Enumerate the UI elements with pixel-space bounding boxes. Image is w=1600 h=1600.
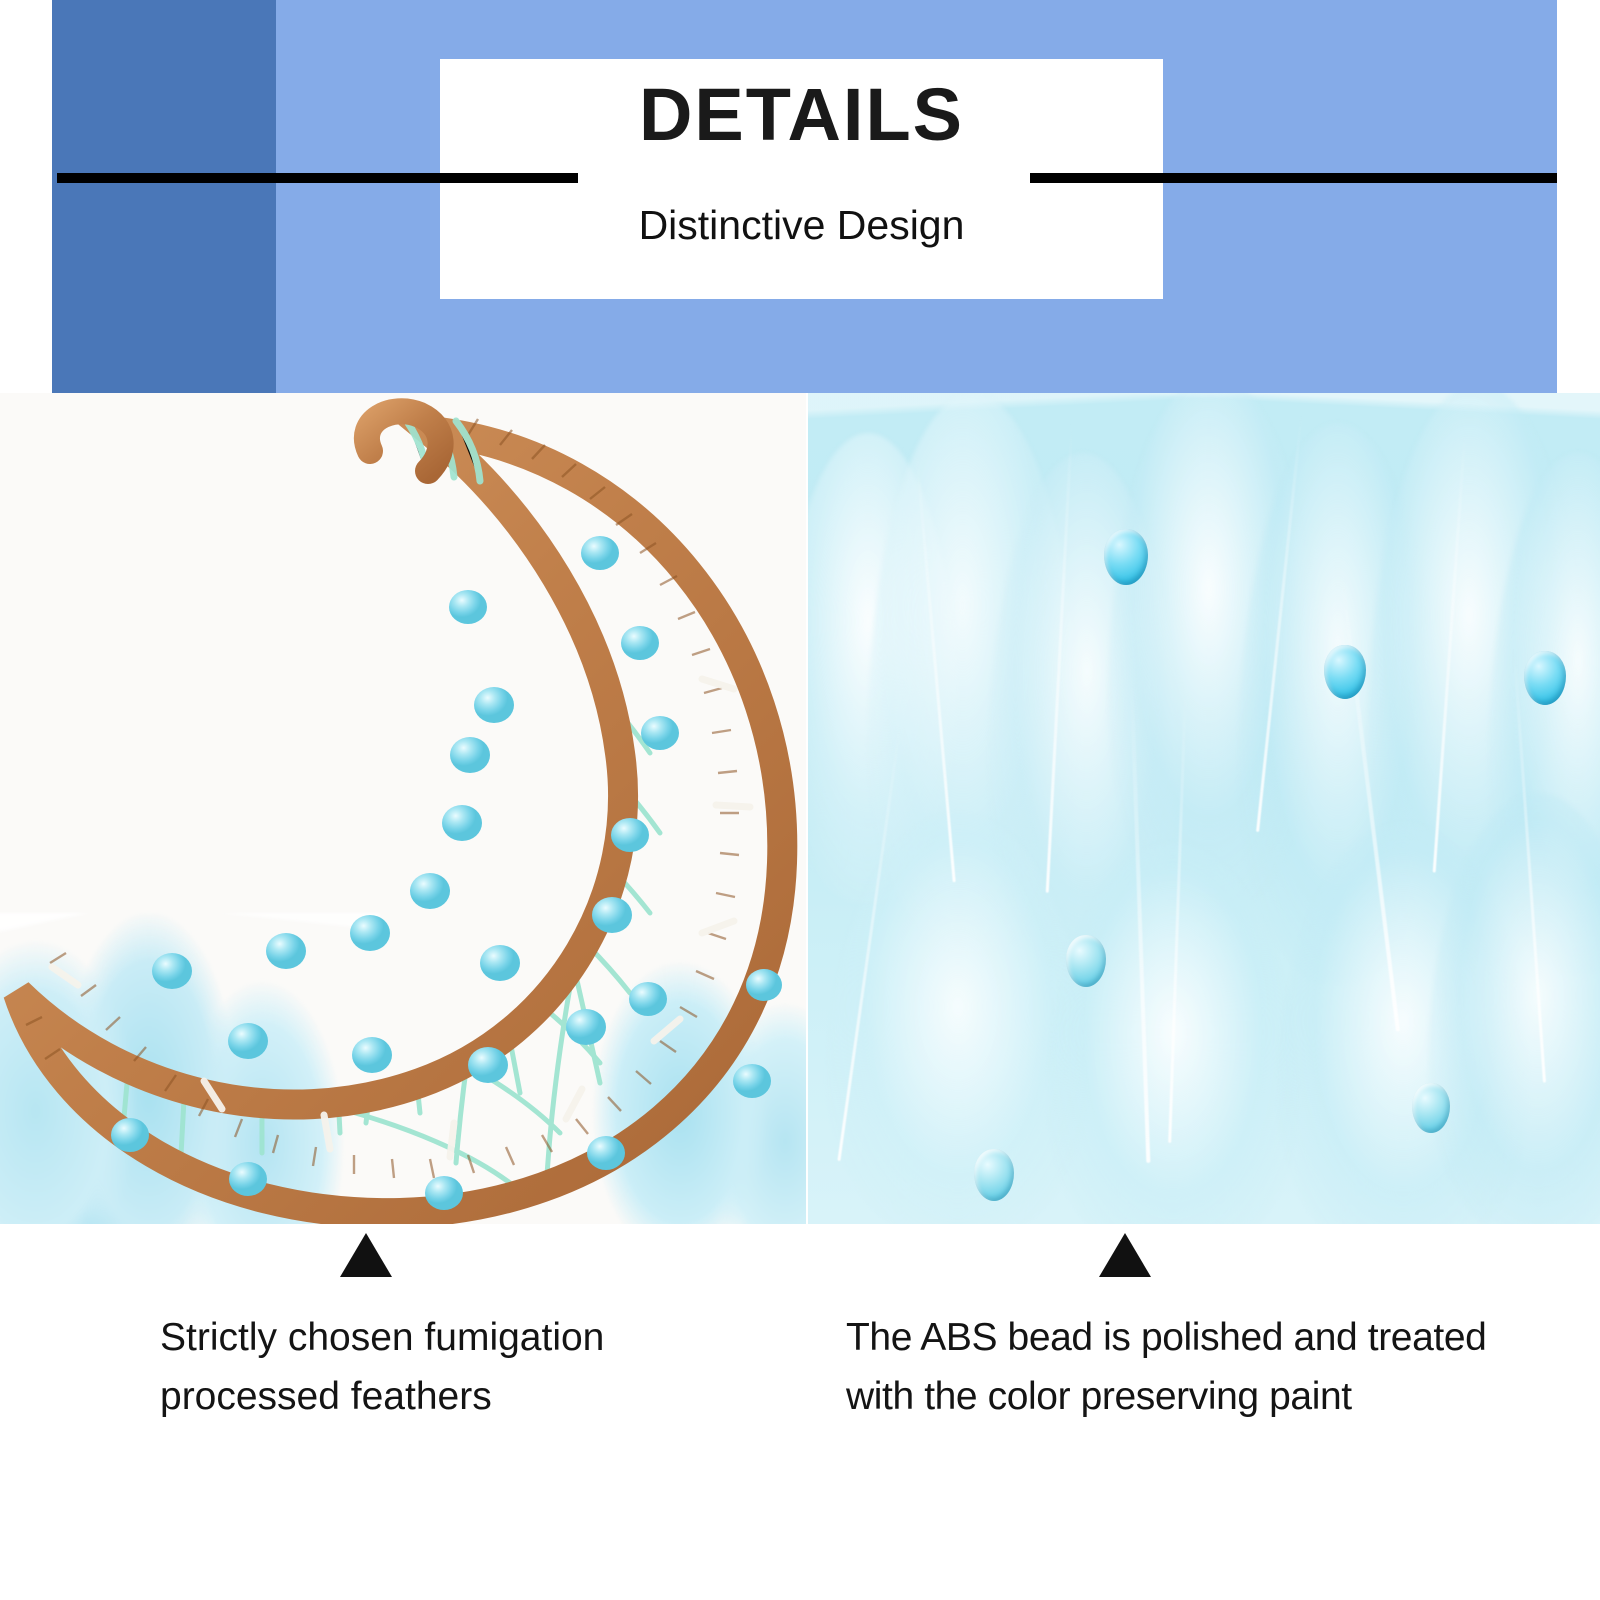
- caption-left-line2: processed feathers: [160, 1367, 760, 1426]
- title-rule-left: [57, 173, 578, 183]
- dreamcatcher-illustration: [0, 393, 806, 1224]
- page-subtitle: Distinctive Design: [440, 205, 1163, 246]
- caption-right: The ABS bead is polished and treated wit…: [846, 1308, 1566, 1427]
- suede-hoop: [18, 431, 782, 1213]
- hanging-loop: [367, 411, 441, 471]
- feather-field: [808, 393, 1600, 1224]
- dreamcatcher-scene: [0, 393, 806, 1224]
- caption-left-line1: Strictly chosen fumigation: [160, 1308, 760, 1367]
- caption-right-line2: with the color preserving paint: [846, 1367, 1566, 1426]
- product-photo-dreamcatcher: [0, 393, 806, 1224]
- triangle-up-icon-left: [340, 1233, 392, 1277]
- page-title: DETAILS: [440, 78, 1163, 152]
- photo-row: [0, 393, 1600, 1224]
- title-rule-right: [1030, 173, 1557, 183]
- banner-block-dark: [52, 0, 276, 402]
- product-photo-feathers: [808, 393, 1600, 1224]
- triangle-up-icon-right: [1099, 1233, 1151, 1277]
- caption-right-line1: The ABS bead is polished and treated: [846, 1308, 1566, 1367]
- header-banner: DETAILS Distinctive Design: [0, 0, 1600, 403]
- caption-left: Strictly chosen fumigation processed fea…: [160, 1308, 760, 1427]
- caption-row: Strictly chosen fumigation processed fea…: [0, 1224, 1600, 1600]
